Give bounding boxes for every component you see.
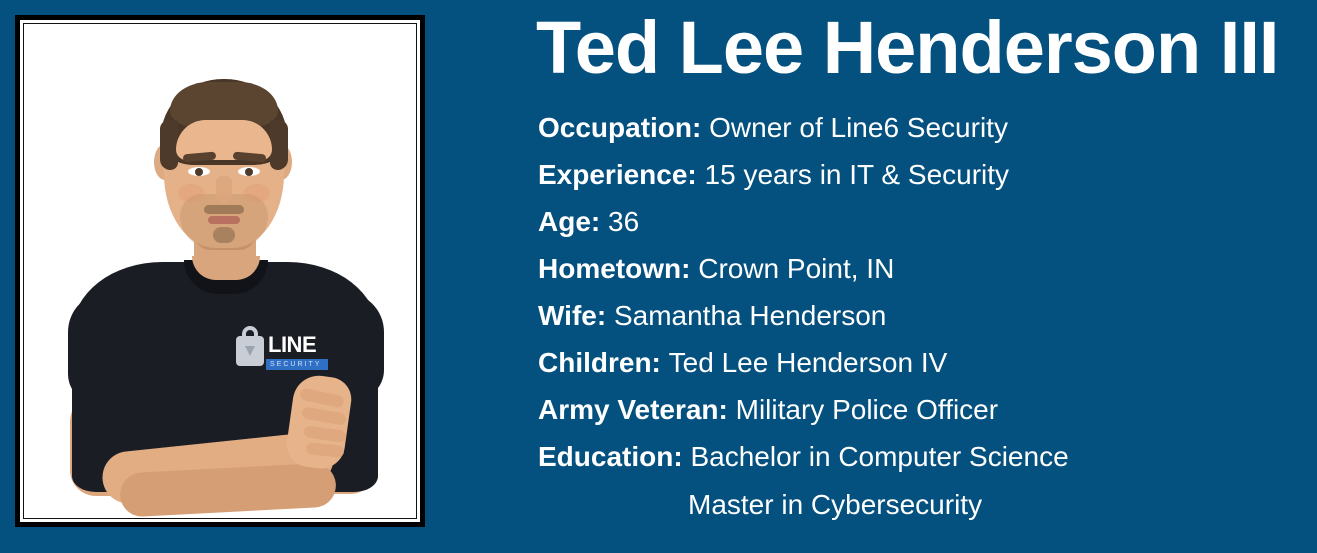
fact-label: Education: (538, 441, 690, 472)
fact-label: Experience: (538, 159, 705, 190)
fact-label: Children: (538, 347, 669, 378)
fact-value: Military Police Officer (736, 394, 998, 425)
portrait-photo-frame: LINE SECURITY (15, 15, 425, 527)
shirt-chest-logo: LINE SECURITY (236, 326, 326, 374)
page-title: Ted Lee Henderson III (536, 4, 1278, 92)
pupil-right (245, 168, 253, 176)
moustache (204, 205, 244, 214)
facts-list: Occupation: Owner of Line6 Security Expe… (538, 104, 1308, 530)
fact-row-occupation: Occupation: Owner of Line6 Security (538, 104, 1308, 151)
fact-row-wife: Wife: Samantha Henderson (538, 292, 1308, 339)
fact-value: Crown Point, IN (698, 253, 894, 284)
fact-row-experience: Experience: 15 years in IT & Security (538, 151, 1308, 198)
fact-row-age: Age: 36 (538, 198, 1308, 245)
photo-inner-border: LINE SECURITY (23, 23, 417, 519)
fact-value: Ted Lee Henderson IV (669, 347, 948, 378)
hair-side-right (270, 120, 288, 170)
fact-value: Bachelor in Computer Science (690, 441, 1068, 472)
profile-info-panel: Ted Lee Henderson III Occupation: Owner … (536, 0, 1317, 553)
fact-label: Age: (538, 206, 608, 237)
fact-row-hometown: Hometown: Crown Point, IN (538, 245, 1308, 292)
logo-wordmark: LINE (268, 334, 316, 356)
fact-value: 36 (608, 206, 639, 237)
fact-label: Wife: (538, 300, 614, 331)
fact-value: Owner of Line6 Security (709, 112, 1008, 143)
mouth (208, 216, 240, 224)
fact-label: Occupation: (538, 112, 709, 143)
cheek-left (178, 184, 204, 202)
logo-bar-text: SECURITY (270, 360, 321, 370)
fact-row-education: Education: Bachelor in Computer Science (538, 433, 1308, 480)
pupil-left (195, 168, 203, 176)
portrait-photo: LINE SECURITY (24, 24, 416, 518)
cheek-right (244, 184, 270, 202)
fact-label: Army Veteran: (538, 394, 736, 425)
education-additional-degree: Master in Cybersecurity (538, 480, 1308, 530)
profile-card: LINE SECURITY Ted Lee Henderson III Occu… (0, 0, 1317, 553)
fact-value: 15 years in IT & Security (705, 159, 1010, 190)
photo-mat: LINE SECURITY (20, 20, 420, 522)
fact-value: Samantha Henderson (614, 300, 886, 331)
chin-beard (213, 227, 235, 243)
fact-label: Hometown: (538, 253, 698, 284)
padlock-shackle-icon (242, 326, 258, 344)
nose (216, 176, 232, 204)
fact-row-army-veteran: Army Veteran: Military Police Officer (538, 386, 1308, 433)
fact-row-children: Children: Ted Lee Henderson IV (538, 339, 1308, 386)
